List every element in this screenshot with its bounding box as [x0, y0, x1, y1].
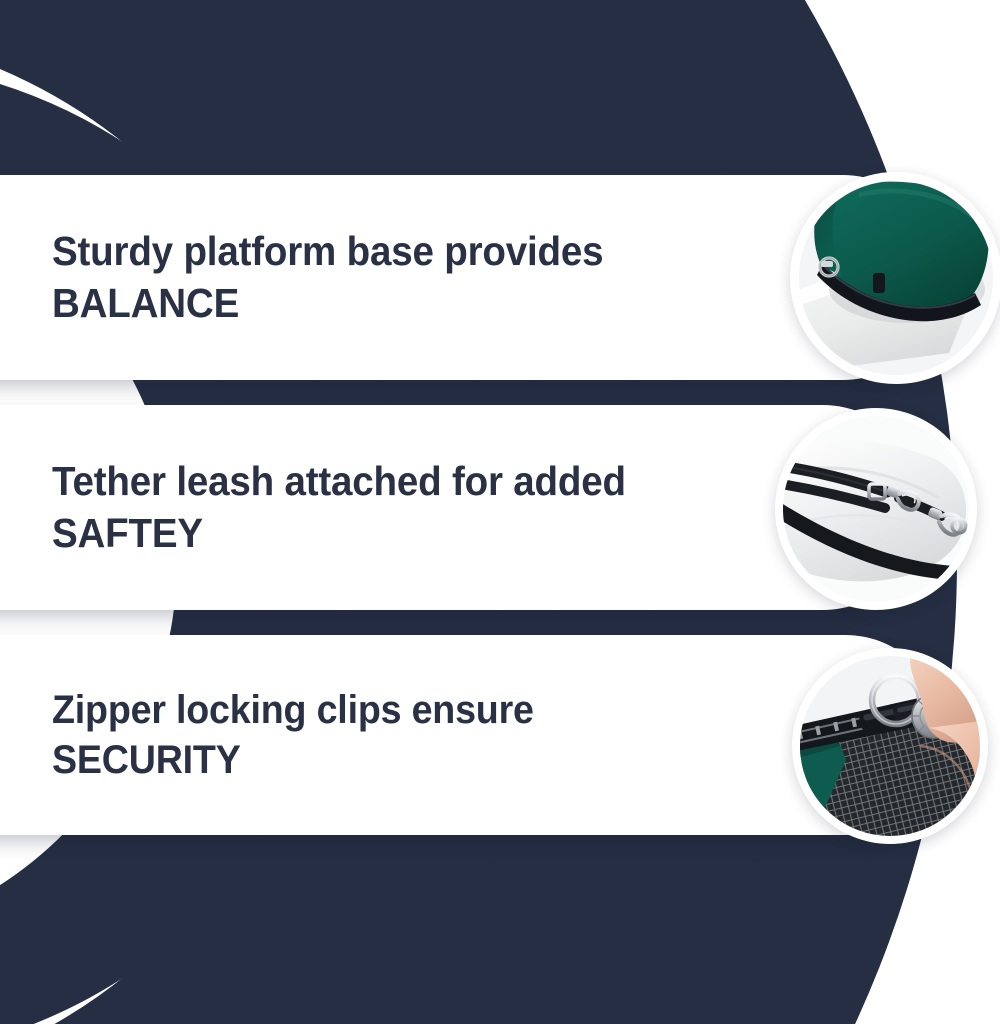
feature-line2-safety: SAFTEY — [52, 510, 203, 556]
feature-line1-security: Zipper locking clips ensure — [52, 688, 534, 732]
feature-line2-balance: BALANCE — [52, 280, 239, 326]
hand-holding-zipper-locking-clip-photo — [792, 648, 988, 844]
feature-text-balance: Sturdy platform base provides BALANCE — [52, 226, 603, 329]
feature-line1-balance: Sturdy platform base provides — [52, 228, 603, 274]
green-pouch-on-white-platform-base-photo — [790, 172, 1000, 384]
feature-text-security: Zipper locking clips ensure SECURITY — [52, 685, 534, 785]
feature-line1-safety: Tether leash attached for added — [52, 458, 626, 504]
photo-clip-balance — [799, 181, 993, 375]
product-feature-infographic: Sturdy platform base provides BALANCE — [0, 0, 1000, 1024]
black-tether-leash-with-metal-clips-photo — [775, 408, 977, 610]
feature-line2-security: SECURITY — [52, 738, 241, 782]
photo-clip-safety — [783, 416, 969, 602]
photo-clip-security — [800, 656, 980, 836]
feature-text-safety: Tether leash attached for added SAFTEY — [52, 456, 626, 559]
